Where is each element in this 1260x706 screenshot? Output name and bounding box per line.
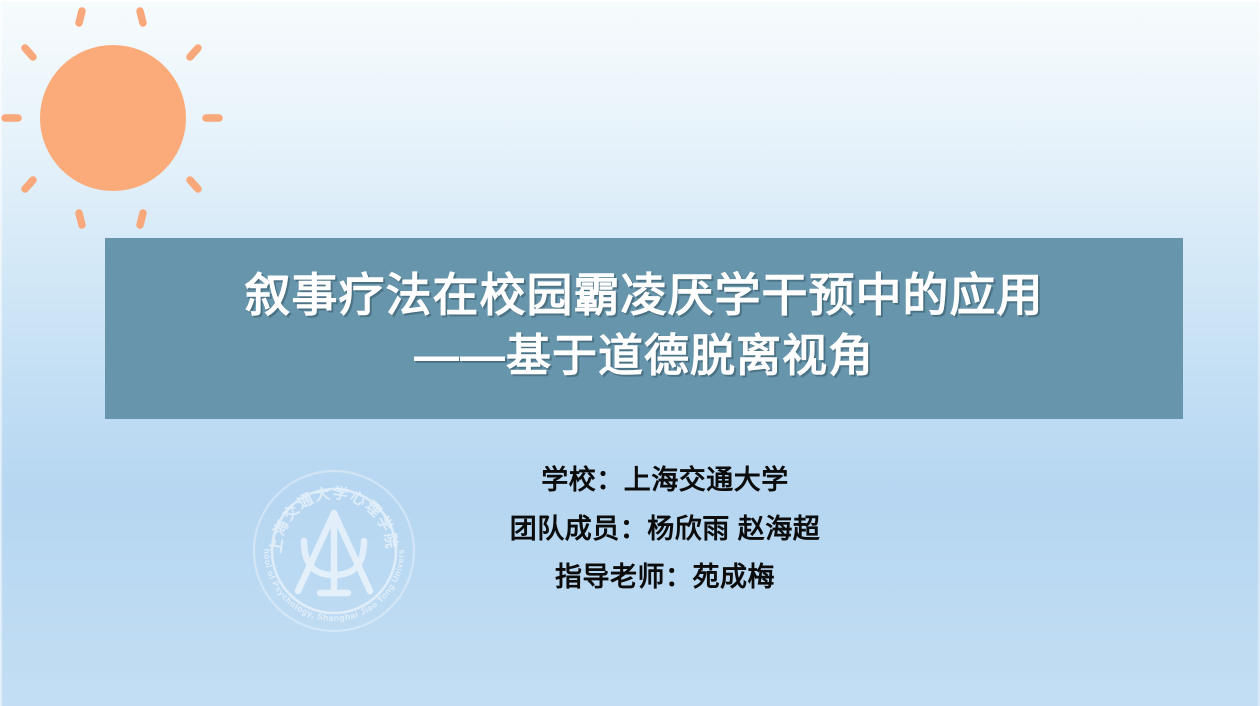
title-banner: 叙事疗法在校园霸凌厌学干预中的应用 ——基于道德脱离视角: [105, 238, 1183, 419]
credits-block: 学校：上海交通大学 团队成员：杨欣雨 赵海超 指导老师：苑成梅: [430, 466, 900, 593]
credit-school: 学校：上海交通大学: [541, 466, 789, 496]
credit-team-members: 团队成员：杨欣雨 赵海超: [510, 515, 821, 545]
school-of-psychology-seal-icon: 上海交通大学心理学院 School of Psychology, Shangha…: [246, 463, 422, 635]
slide-title-subtitle: ——基于道德脱离视角: [414, 326, 874, 385]
sun-decoration: [0, 0, 250, 236]
sun-icon: [5, 11, 219, 225]
slide-title-main: 叙事疗法在校园霸凌厌学干预中的应用: [245, 265, 1044, 326]
credit-advisor: 指导老师：苑成梅: [555, 563, 775, 593]
title-slide: 叙事疗法在校园霸凌厌学干预中的应用 ——基于道德脱离视角 上海交通大学心理学院 …: [0, 0, 1260, 706]
